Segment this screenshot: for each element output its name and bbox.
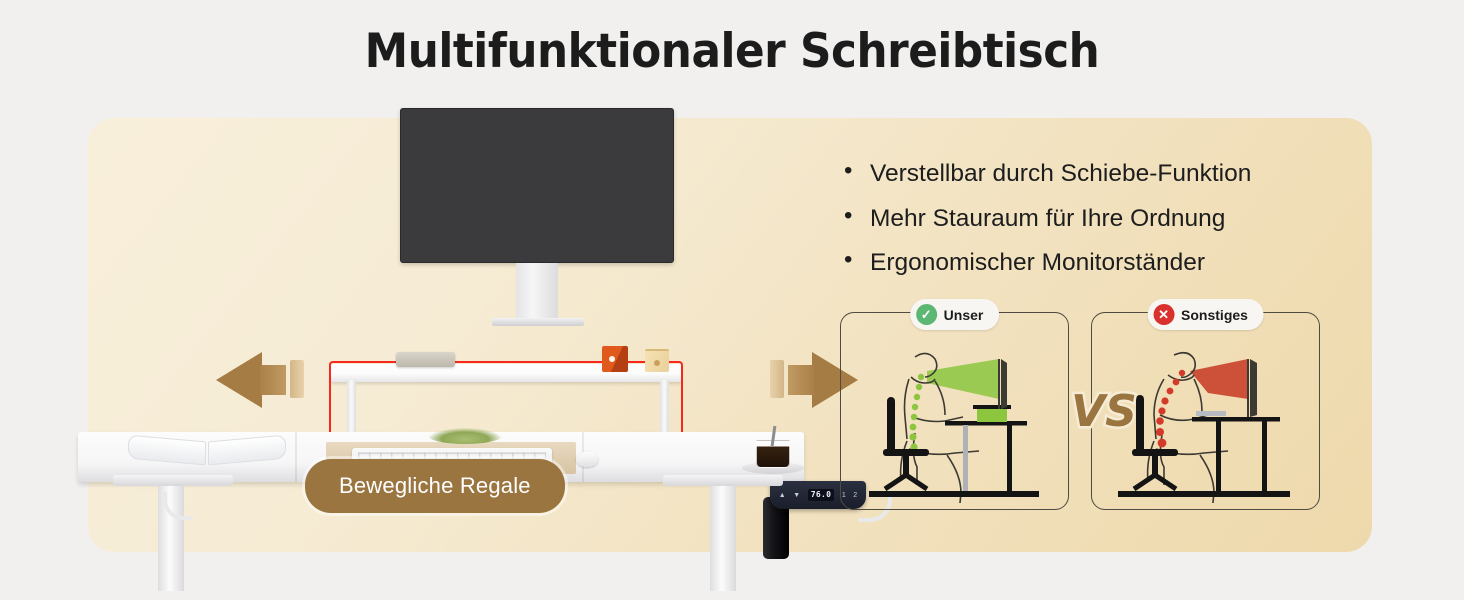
mini-pc: [396, 352, 455, 367]
book-page-left: [128, 435, 206, 466]
slide-arrow-left-icon: [216, 352, 308, 408]
comparison-box-good: ✓ Unser: [840, 312, 1069, 510]
feature-list: Verstellbar durch Schiebe-Funktion Mehr …: [840, 162, 1340, 296]
controller-up-icon[interactable]: ▲: [779, 492, 786, 499]
controller-down-icon[interactable]: ▼: [793, 492, 800, 499]
cross-icon: ✕: [1153, 304, 1174, 325]
dice-decoration: [602, 346, 628, 372]
desk-seam-left: [295, 432, 297, 482]
book-page-right: [208, 435, 286, 466]
desk-foot-right: [663, 475, 783, 486]
open-book: [128, 434, 288, 464]
desk-foot-left: [113, 475, 233, 486]
badge-bad-label: Sonstiges: [1181, 307, 1248, 323]
monitor-neck: [516, 263, 558, 325]
product-infographic: Multifunktionaler Schreibtisch: [0, 0, 1464, 600]
height-display: 76.0: [808, 489, 834, 501]
callout-label: Bewegliche Regale: [305, 459, 565, 513]
desk-leg-right: [710, 481, 736, 591]
comparison-section: ✓ Unser: [840, 312, 1320, 510]
mouse: [576, 452, 598, 467]
check-icon: ✓: [916, 304, 937, 325]
shelf-highlight-outline: [329, 361, 683, 440]
badge-good-label: Unser: [944, 307, 984, 323]
plant-decoration: [428, 428, 502, 444]
good-posture-illustration: [849, 337, 1062, 503]
feature-item: Mehr Stauraum für Ihre Ordnung: [840, 207, 1340, 232]
monitor-base: [492, 318, 584, 326]
monitor-screen: [400, 108, 674, 263]
gift-box-decoration: [645, 349, 669, 372]
feature-item: Ergonomischer Monitorständer: [840, 251, 1340, 276]
badge-bad: ✕ Sonstiges: [1147, 299, 1264, 330]
feature-item: Verstellbar durch Schiebe-Funktion: [840, 162, 1340, 187]
badge-good: ✓ Unser: [910, 299, 1000, 330]
vs-label: VS: [1067, 386, 1141, 437]
